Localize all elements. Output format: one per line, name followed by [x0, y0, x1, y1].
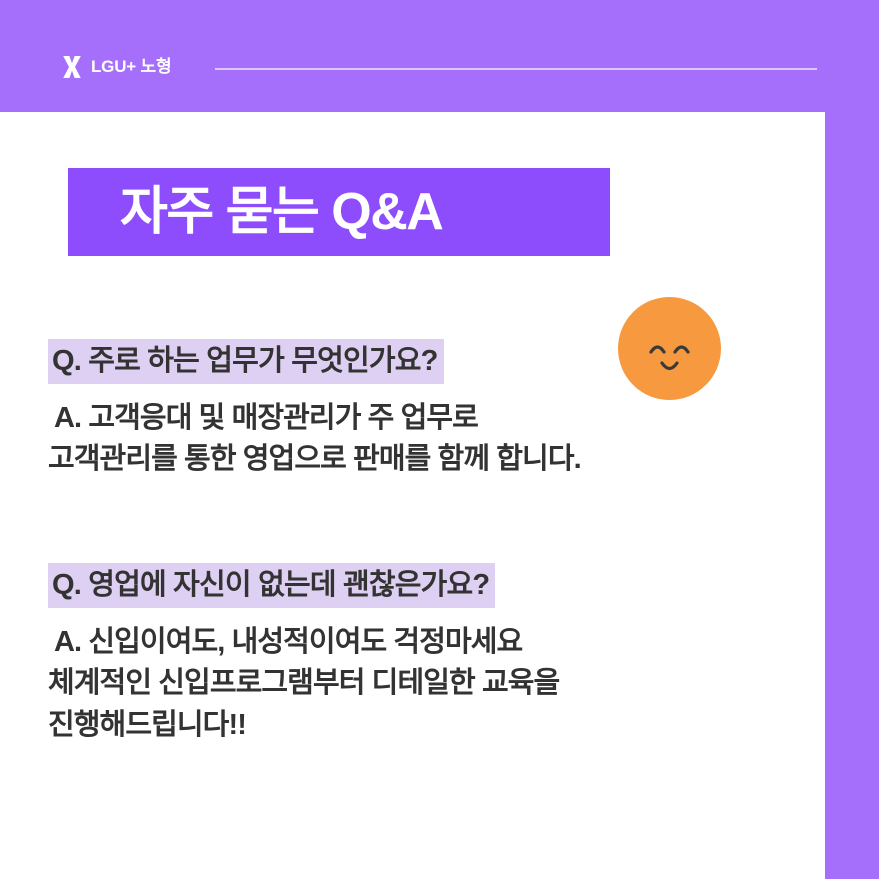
question-text-1: Q. 주로 하는 업무가 무엇인가요?: [48, 339, 444, 384]
lgu-bowtie-x-icon: [62, 56, 82, 78]
header-divider: [215, 68, 817, 70]
brand-logo: LGU+ 노형: [62, 55, 171, 79]
content-sheet: 자주 묻는 Q&A Q. 주로 하는 업무가 무엇인가요? A. 고객응대 및 …: [0, 112, 825, 879]
answer-line: 진행해드립니다!!: [48, 705, 559, 746]
smiling-face-emoji: [618, 297, 721, 400]
answer-line: A. 고객응대 및 매장관리가 주 업무로: [48, 398, 581, 439]
page-header: LGU+ 노형: [0, 0, 879, 112]
answer-line: A. 신입이여도, 내성적이여도 걱정마세요: [48, 622, 559, 663]
answer-text-2: A. 신입이여도, 내성적이여도 걱정마세요 체계적인 신입프로그램부터 디테일…: [48, 622, 559, 746]
title-banner: 자주 묻는 Q&A: [68, 168, 610, 256]
answer-line: 체계적인 신입프로그램부터 디테일한 교육을: [48, 663, 559, 704]
question-text-2: Q. 영업에 자신이 없는데 괜찮은가요?: [48, 563, 495, 608]
qa-item-2: Q. 영업에 자신이 없는데 괜찮은가요? A. 신입이여도, 내성적이여도 걱…: [48, 563, 559, 746]
answer-line: 고객관리를 통한 영업으로 판매를 함께 합니다.: [48, 439, 581, 480]
qa-card: LGU+ 노형 자주 묻는 Q&A Q. 주로 하는 업무가 무엇인가요? A.…: [0, 0, 879, 879]
answer-text-1: A. 고객응대 및 매장관리가 주 업무로 고객관리를 통한 영업으로 판매를 …: [48, 398, 581, 480]
qa-item-1: Q. 주로 하는 업무가 무엇인가요? A. 고객응대 및 매장관리가 주 업무…: [48, 339, 581, 481]
page-title: 자주 묻는 Q&A: [68, 186, 442, 238]
brand-name: LGU+ 노형: [91, 56, 171, 78]
